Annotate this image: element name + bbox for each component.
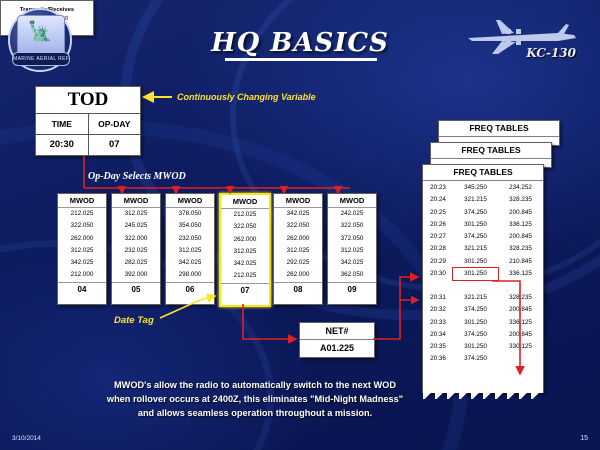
- mwod-freq: 312.025: [112, 208, 160, 220]
- label-date-tag: Date Tag: [114, 315, 154, 326]
- mwod-column-04: MWOD 212.025 322.050 262.000 312.025 342…: [57, 193, 107, 305]
- mwod-freq: 282.025: [112, 257, 160, 269]
- tod-header-opday: OP-DAY: [88, 114, 141, 134]
- mwod-freq: 342.025: [58, 257, 106, 269]
- mwod-freq: 312.025: [166, 245, 214, 257]
- tod-value-row: 20:30 07: [36, 135, 140, 155]
- freq-row: 20:29 301.250 210.845: [423, 256, 543, 268]
- freq-value-1: 374.250: [453, 329, 498, 341]
- tod-header-row: TIME OP-DAY: [36, 114, 140, 135]
- freq-value-1: 374.250: [453, 231, 498, 243]
- page-title: HQ BASICS: [0, 28, 600, 58]
- net-value: A01.225: [300, 340, 374, 357]
- paragraph-line2: when rollover occurs at 2400Z, this elim…: [30, 392, 480, 406]
- freq-row: 20:35 301.250 330.125: [423, 341, 543, 353]
- mwod-freq: 378.050: [166, 208, 214, 220]
- mwod-freq: 212.000: [58, 269, 106, 281]
- freq-value-1: 345.250: [453, 182, 498, 194]
- mwod-column-09: MWOD 242.025 322.050 372.050 312.025 342…: [327, 193, 377, 305]
- mwod-freq: 342.025: [274, 208, 322, 220]
- freq-value-2: 328.235: [498, 243, 543, 255]
- freq-value-2: [498, 353, 543, 365]
- freq-value-1: 301.250: [453, 268, 498, 280]
- freq-value-1: 374.250: [453, 304, 498, 316]
- freq-time: 20:33: [423, 317, 453, 329]
- title-underline: [225, 58, 377, 61]
- freq-value-2: 336.125: [498, 268, 543, 280]
- mwod-freq: 372.050: [328, 233, 376, 245]
- mwod-column-06: MWOD 378.050 354.050 232.050 312.025 342…: [165, 193, 215, 305]
- freq-time: 20:35: [423, 341, 453, 353]
- mwod-day: 07: [221, 283, 269, 298]
- mwod-freq: 292.025: [274, 257, 322, 269]
- freq-value-2: 200.845: [498, 231, 543, 243]
- mwod-title: MWOD: [166, 194, 214, 208]
- mwod-freq: 312.025: [274, 245, 322, 257]
- freq-row-highlighted: 20:30 301.250 336.125: [423, 268, 543, 280]
- freq-row: 20:31 321.215 328.235: [423, 292, 543, 304]
- mwod-freq: 212.025: [221, 209, 269, 221]
- mwod-day: 09: [328, 282, 376, 297]
- net-title: NET#: [300, 323, 374, 340]
- freq-value-1: 301.250: [453, 256, 498, 268]
- mwod-freq: 242.025: [328, 208, 376, 220]
- freq-time: 20:36: [423, 353, 453, 365]
- mwod-day: 08: [274, 282, 322, 297]
- freq-value-2: 210.845: [498, 256, 543, 268]
- mwod-title: MWOD: [328, 194, 376, 208]
- explanatory-paragraph: MWOD's allow the radio to automatically …: [30, 378, 480, 420]
- freq-table-rows: 20:23 345.250 234.252 20:24 321.215 328.…: [423, 181, 543, 280]
- freq-value-2: 234.252: [498, 182, 543, 194]
- mwod-freq: 322.050: [328, 220, 376, 232]
- mwod-day: 04: [58, 282, 106, 297]
- mwod-freq: 312.025: [328, 245, 376, 257]
- label-continuously-changing-variable: Continuously Changing Variable: [177, 92, 316, 102]
- net-number-box: NET# A01.225: [299, 322, 375, 358]
- freq-value-2: 200.845: [498, 304, 543, 316]
- mwod-freq: 312.025: [221, 246, 269, 258]
- freq-value-2: 336.125: [498, 317, 543, 329]
- mwod-title: MWOD: [221, 195, 269, 209]
- freq-row: 20:33 301.250 336.125: [423, 317, 543, 329]
- mwod-freq: 392.000: [112, 269, 160, 281]
- freq-row: 20:24 321.215 328.235: [423, 194, 543, 206]
- mwod-freq: 245.025: [112, 220, 160, 232]
- paragraph-line3: and allows seamless operation throughout…: [30, 406, 480, 420]
- freq-time: 20:26: [423, 219, 453, 231]
- mwod-freq: 322.050: [274, 220, 322, 232]
- freq-value-2: 328.235: [498, 194, 543, 206]
- freq-tables-title: FREQ TABLES: [439, 121, 559, 137]
- freq-time: 20:27: [423, 231, 453, 243]
- slide-canvas: 🗽 MARINE AERIAL REFUELER TRANSPORT SQUAD…: [0, 0, 600, 450]
- freq-row: 20:28 321.215 328.235: [423, 243, 543, 255]
- freq-time: 20:28: [423, 243, 453, 255]
- freq-value-1: 321.215: [453, 292, 498, 304]
- mwod-column-08: MWOD 342.025 322.050 262.000 312.025 292…: [273, 193, 323, 305]
- freq-time: 20:34: [423, 329, 453, 341]
- freq-time: 20:25: [423, 207, 453, 219]
- mwod-freq: 322.050: [221, 221, 269, 233]
- mwod-freq: 342.025: [328, 257, 376, 269]
- freq-value-1: 321.215: [453, 194, 498, 206]
- mwod-freq: 322.050: [58, 220, 106, 232]
- freq-row: 20:32 374.250 200.845: [423, 304, 543, 316]
- paragraph-line1: MWOD's allow the radio to automatically …: [30, 378, 480, 392]
- freq-value-1: 301.250: [453, 341, 498, 353]
- mwod-freq: 212.025: [221, 270, 269, 282]
- mwod-title: MWOD: [112, 194, 160, 208]
- freq-row: 20:36 374.250: [423, 353, 543, 365]
- mwod-day: 05: [112, 282, 160, 297]
- freq-row: 20:34 374.250 200.845: [423, 329, 543, 341]
- freq-row: 20:23 345.250 234.252: [423, 182, 543, 194]
- mwod-freq: 262.000: [274, 233, 322, 245]
- mwod-title: MWOD: [274, 194, 322, 208]
- freq-tables-title: FREQ TABLES: [423, 165, 543, 181]
- freq-tables-title: FREQ TABLES: [431, 143, 551, 159]
- tod-header-time: TIME: [36, 114, 88, 134]
- freq-value-1: 301.250: [453, 317, 498, 329]
- freq-tables-box-front: FREQ TABLES 20:23 345.250 234.252 20:24 …: [422, 164, 544, 294]
- mwod-freq: 322.000: [112, 233, 160, 245]
- freq-row: 20:27 374.250 200.845: [423, 231, 543, 243]
- tod-box: TOD TIME OP-DAY 20:30 07: [35, 86, 141, 156]
- mwod-day: 06: [166, 282, 214, 297]
- mwod-freq: 312.025: [58, 245, 106, 257]
- freq-value-1: 374.250: [453, 353, 498, 365]
- freq-value-1: 374.250: [453, 207, 498, 219]
- freq-value-2: 200.845: [498, 207, 543, 219]
- freq-row: 20:25 374.250 200.845: [423, 207, 543, 219]
- mwod-freq: 342.025: [166, 257, 214, 269]
- freq-time: 20:32: [423, 304, 453, 316]
- freq-value-2: 200.845: [498, 329, 543, 341]
- mwod-freq: 298.000: [166, 269, 214, 281]
- mwod-freq: 232.050: [166, 233, 214, 245]
- mwod-title: MWOD: [58, 194, 106, 208]
- mwod-column-07-selected: MWOD 212.025 322.050 262.000 312.025 342…: [219, 193, 271, 307]
- mwod-freq: 232.025: [112, 245, 160, 257]
- tod-title: TOD: [36, 87, 140, 114]
- freq-time: 20:23: [423, 182, 453, 194]
- freq-value-2: 328.235: [498, 292, 543, 304]
- freq-time: 20:29: [423, 256, 453, 268]
- mwod-freq: 212.025: [58, 208, 106, 220]
- tod-value-time: 20:30: [36, 135, 88, 155]
- slide-date: 3/10/2014: [12, 435, 41, 442]
- freq-time: 20:24: [423, 194, 453, 206]
- mwod-freq: 354.050: [166, 220, 214, 232]
- slide-page-number: 15: [580, 435, 588, 442]
- freq-value-2: 336.125: [498, 219, 543, 231]
- freq-value-1: 321.215: [453, 243, 498, 255]
- mwod-freq: 262.000: [58, 233, 106, 245]
- freq-table-rows-continued: 20:31 321.215 328.235 20:32 374.250 200.…: [423, 291, 543, 366]
- mwod-column-05: MWOD 312.025 245.025 322.000 232.025 282…: [111, 193, 161, 305]
- mwod-freq: 362.050: [328, 269, 376, 281]
- freq-row: 20:26 301.250 336.125: [423, 219, 543, 231]
- freq-time: 20:31: [423, 292, 453, 304]
- freq-value-2: 330.125: [498, 341, 543, 353]
- mwod-freq: 342.025: [221, 258, 269, 270]
- mwod-freq: 262.000: [274, 269, 322, 281]
- freq-value-1: 301.250: [453, 219, 498, 231]
- freq-time: 20:30: [423, 268, 453, 280]
- label-opday-selects-mwod: Op-Day Selects MWOD: [88, 171, 186, 182]
- tod-value-opday: 07: [88, 135, 141, 155]
- mwod-freq: 262.000: [221, 234, 269, 246]
